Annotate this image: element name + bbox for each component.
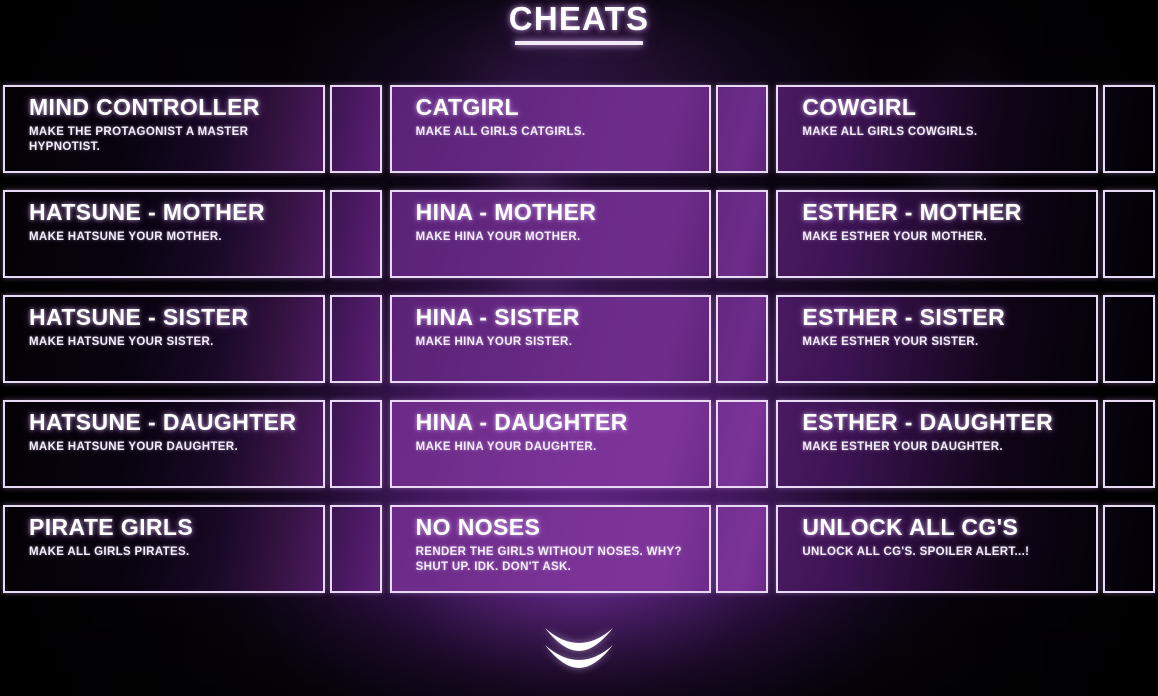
- title-underline: [515, 41, 643, 45]
- cheat-toggle-box[interactable]: [716, 295, 768, 383]
- cheat-card-body[interactable]: HATSUNE - SISTERMAKE HATSUNE YOUR SISTER…: [3, 295, 325, 383]
- cheat-description: MAKE HATSUNE YOUR MOTHER.: [29, 230, 323, 245]
- cheat-card[interactable]: HINA - DAUGHTERMAKE HINA YOUR DAUGHTER.: [390, 400, 769, 488]
- cheat-title: COWGIRL: [802, 96, 1096, 119]
- cheat-title: ESTHER - SISTER: [802, 306, 1096, 329]
- cheat-toggle-box[interactable]: [330, 295, 382, 383]
- cheat-card[interactable]: ESTHER - MOTHERMAKE ESTHER YOUR MOTHER.: [776, 190, 1155, 278]
- cheat-description: MAKE ESTHER YOUR SISTER.: [802, 335, 1096, 350]
- cheat-toggle-box[interactable]: [716, 85, 768, 173]
- cheat-title: HATSUNE - MOTHER: [29, 201, 323, 224]
- cheat-title: HATSUNE - DAUGHTER: [29, 411, 323, 434]
- cheat-toggle-box[interactable]: [716, 400, 768, 488]
- page-title: CHEATS: [509, 2, 649, 37]
- cheat-toggle-box[interactable]: [330, 85, 382, 173]
- cheat-card[interactable]: CATGIRLMAKE ALL GIRLS CATGIRLS.: [390, 85, 769, 173]
- cheat-toggle-box[interactable]: [1103, 295, 1155, 383]
- cheat-card-body[interactable]: HINA - DAUGHTERMAKE HINA YOUR DAUGHTER.: [390, 400, 712, 488]
- cheat-card-body[interactable]: HATSUNE - DAUGHTERMAKE HATSUNE YOUR DAUG…: [3, 400, 325, 488]
- cheat-description: MAKE HINA YOUR MOTHER.: [416, 230, 710, 245]
- cheat-description: MAKE ALL GIRLS COWGIRLS.: [802, 125, 1096, 140]
- cheat-title: HINA - MOTHER: [416, 201, 710, 224]
- cheat-title: MIND CONTROLLER: [29, 96, 323, 119]
- cheat-card[interactable]: UNLOCK ALL CG'SUNLOCK ALL CG'S. SPOILER …: [776, 505, 1155, 593]
- cheat-card-body[interactable]: HINA - MOTHERMAKE HINA YOUR MOTHER.: [390, 190, 712, 278]
- cheat-toggle-box[interactable]: [330, 190, 382, 278]
- cheat-title: ESTHER - MOTHER: [802, 201, 1096, 224]
- cheat-card[interactable]: ESTHER - SISTERMAKE ESTHER YOUR SISTER.: [776, 295, 1155, 383]
- cheat-description: MAKE THE PROTAGONIST A MASTER HYPNOTIST.: [29, 125, 323, 156]
- cheat-card[interactable]: HATSUNE - SISTERMAKE HATSUNE YOUR SISTER…: [3, 295, 382, 383]
- double-chevron-down-logo: [533, 618, 625, 680]
- cheat-card[interactable]: MIND CONTROLLERMAKE THE PROTAGONIST A MA…: [3, 85, 382, 173]
- cheat-card-body[interactable]: ESTHER - SISTERMAKE ESTHER YOUR SISTER.: [776, 295, 1098, 383]
- cheat-card-body[interactable]: CATGIRLMAKE ALL GIRLS CATGIRLS.: [390, 85, 712, 173]
- cheat-card-body[interactable]: COWGIRLMAKE ALL GIRLS COWGIRLS.: [776, 85, 1098, 173]
- cheat-toggle-box[interactable]: [330, 400, 382, 488]
- cheat-description: UNLOCK ALL CG'S. SPOILER ALERT...!: [802, 545, 1096, 560]
- cheat-card[interactable]: HATSUNE - DAUGHTERMAKE HATSUNE YOUR DAUG…: [3, 400, 382, 488]
- cheat-description: RENDER THE GIRLS WITHOUT NOSES. WHY? SHU…: [416, 545, 710, 576]
- cheat-card[interactable]: NO NOSESRENDER THE GIRLS WITHOUT NOSES. …: [390, 505, 769, 593]
- cheat-toggle-box[interactable]: [716, 505, 768, 593]
- cheat-description: MAKE ESTHER YOUR MOTHER.: [802, 230, 1096, 245]
- cheat-toggle-box[interactable]: [716, 190, 768, 278]
- cheat-title: ESTHER - DAUGHTER: [802, 411, 1096, 434]
- cheat-title: HINA - SISTER: [416, 306, 710, 329]
- cheat-description: MAKE ALL GIRLS CATGIRLS.: [416, 125, 710, 140]
- cheat-title: HINA - DAUGHTER: [416, 411, 710, 434]
- cheat-toggle-box[interactable]: [330, 505, 382, 593]
- cheat-title: PIRATE GIRLS: [29, 516, 323, 539]
- cheat-card[interactable]: COWGIRLMAKE ALL GIRLS COWGIRLS.: [776, 85, 1155, 173]
- cheat-title: HATSUNE - SISTER: [29, 306, 323, 329]
- cheat-card[interactable]: HINA - SISTERMAKE HINA YOUR SISTER.: [390, 295, 769, 383]
- cheat-description: MAKE HATSUNE YOUR DAUGHTER.: [29, 440, 323, 455]
- cheat-description: MAKE ESTHER YOUR DAUGHTER.: [802, 440, 1096, 455]
- cheat-title: UNLOCK ALL CG'S: [802, 516, 1096, 539]
- cheat-card[interactable]: PIRATE GIRLSMAKE ALL GIRLS PIRATES.: [3, 505, 382, 593]
- cheat-toggle-box[interactable]: [1103, 505, 1155, 593]
- cheat-description: MAKE HINA YOUR DAUGHTER.: [416, 440, 710, 455]
- cheat-card-body[interactable]: HINA - SISTERMAKE HINA YOUR SISTER.: [390, 295, 712, 383]
- cheat-card-body[interactable]: PIRATE GIRLSMAKE ALL GIRLS PIRATES.: [3, 505, 325, 593]
- cheat-card[interactable]: ESTHER - DAUGHTERMAKE ESTHER YOUR DAUGHT…: [776, 400, 1155, 488]
- cheat-grid: MIND CONTROLLERMAKE THE PROTAGONIST A MA…: [3, 85, 1155, 593]
- cheat-card-body[interactable]: MIND CONTROLLERMAKE THE PROTAGONIST A MA…: [3, 85, 325, 173]
- cheat-card[interactable]: HATSUNE - MOTHERMAKE HATSUNE YOUR MOTHER…: [3, 190, 382, 278]
- title-area: CHEATS: [0, 0, 1158, 62]
- cheat-card-body[interactable]: ESTHER - DAUGHTERMAKE ESTHER YOUR DAUGHT…: [776, 400, 1098, 488]
- cheat-card[interactable]: HINA - MOTHERMAKE HINA YOUR MOTHER.: [390, 190, 769, 278]
- cheat-description: MAKE HINA YOUR SISTER.: [416, 335, 710, 350]
- cheat-toggle-box[interactable]: [1103, 85, 1155, 173]
- cheat-card-body[interactable]: HATSUNE - MOTHERMAKE HATSUNE YOUR MOTHER…: [3, 190, 325, 278]
- cheat-toggle-box[interactable]: [1103, 400, 1155, 488]
- cheat-title: CATGIRL: [416, 96, 710, 119]
- cheat-description: MAKE HATSUNE YOUR SISTER.: [29, 335, 323, 350]
- cheat-card-body[interactable]: NO NOSESRENDER THE GIRLS WITHOUT NOSES. …: [390, 505, 712, 593]
- cheat-title: NO NOSES: [416, 516, 710, 539]
- cheat-card-body[interactable]: UNLOCK ALL CG'SUNLOCK ALL CG'S. SPOILER …: [776, 505, 1098, 593]
- cheats-screen: CHEATS MIND CONTROLLERMAKE THE PROTAGONI…: [0, 0, 1158, 696]
- cheat-card-body[interactable]: ESTHER - MOTHERMAKE ESTHER YOUR MOTHER.: [776, 190, 1098, 278]
- cheat-description: MAKE ALL GIRLS PIRATES.: [29, 545, 323, 560]
- cheat-toggle-box[interactable]: [1103, 190, 1155, 278]
